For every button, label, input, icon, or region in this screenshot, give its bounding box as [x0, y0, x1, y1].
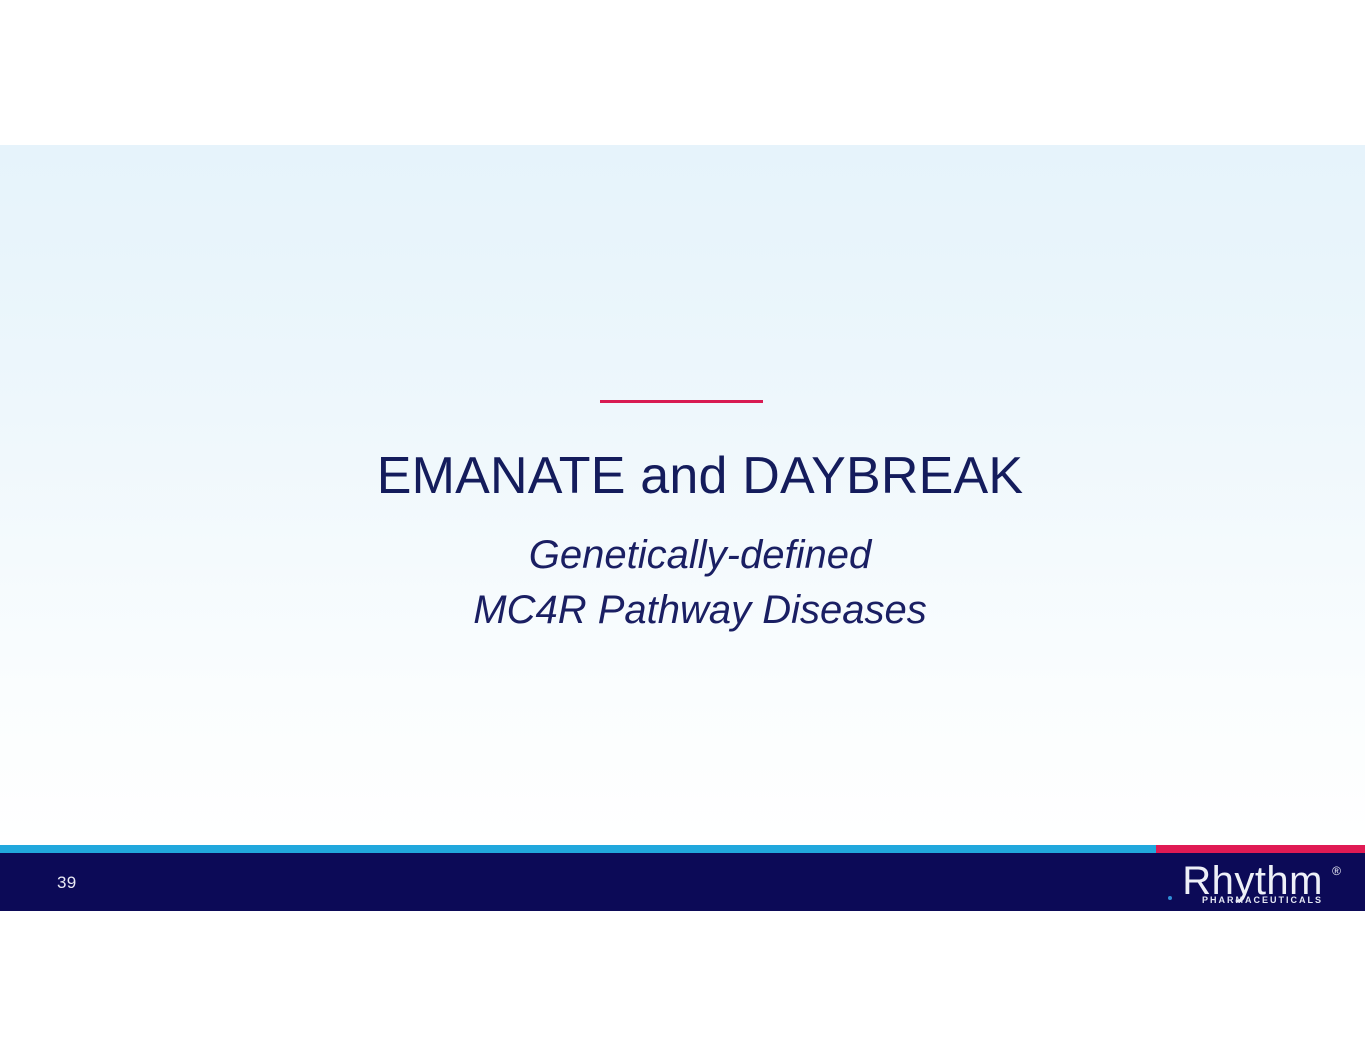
- rhythm-logo: Rhythm ® PHARMACEUTICALS: [1163, 861, 1343, 907]
- slide-subtitle-line-2: MC4R Pathway Diseases: [0, 583, 1365, 638]
- footer-accent-cyan-segment: [0, 845, 1156, 853]
- slide-canvas: EMANATE and DAYBREAK Genetically-defined…: [0, 0, 1365, 1055]
- slide-subtitle: Genetically-defined MC4R Pathway Disease…: [0, 528, 1365, 638]
- rhythm-logo-tagline: PHARMACEUTICALS: [1202, 895, 1323, 905]
- rhythm-logo-dot-icon: [1168, 896, 1172, 900]
- presentation-slide: EMANATE and DAYBREAK Genetically-defined…: [0, 145, 1365, 911]
- registered-trademark-icon: ®: [1332, 865, 1341, 877]
- slide-subtitle-line-1: Genetically-defined: [0, 528, 1365, 583]
- footer-accent-rule: [0, 845, 1365, 853]
- slide-footer: 39 Rhythm ® PHARMACEUTICALS: [0, 853, 1365, 911]
- slide-title: EMANATE and DAYBREAK: [0, 449, 1365, 504]
- page-number: 39: [57, 873, 77, 893]
- title-divider-rule: [600, 400, 763, 403]
